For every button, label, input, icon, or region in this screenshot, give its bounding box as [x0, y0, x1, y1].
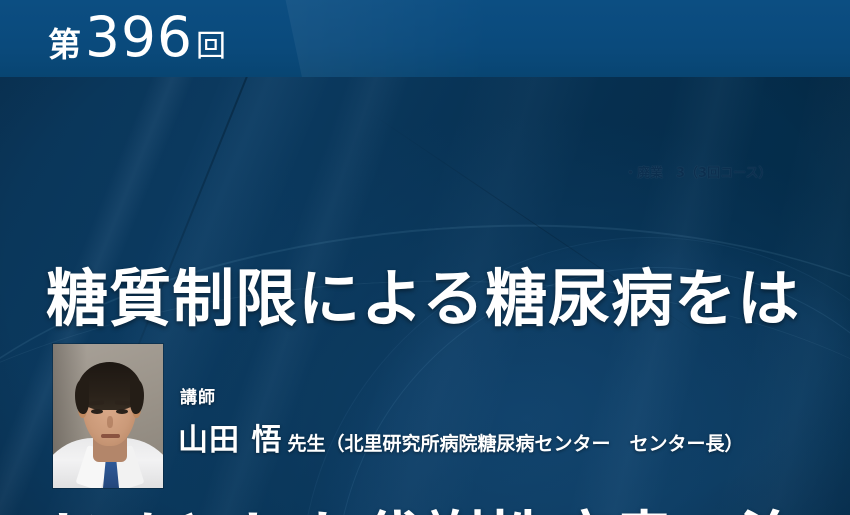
lecturer-name: 山田 悟 — [178, 415, 282, 459]
banner-sheen-decoration — [281, 0, 659, 77]
photo-eye-left — [91, 409, 103, 414]
episode-suffix-label: 回 — [196, 32, 226, 62]
lecturer-role-label: 講師 — [180, 383, 216, 408]
photo-eye-right — [116, 409, 128, 414]
lecturer-photo — [53, 344, 163, 488]
page-title-line-1: 糖質制限による糖尿病をは — [46, 259, 836, 340]
photo-hair-side-left — [75, 380, 89, 414]
episode-number-block: 第 396 回 — [48, 10, 226, 65]
photo-nose — [107, 416, 113, 428]
episode-prefix-label: 第 — [48, 28, 81, 61]
lecturer-name-block: 山田 悟 先生（北里研究所病院糖尿病センター センター長） — [178, 415, 743, 459]
page-title-line-2: じめとした代謝性疾患の治 — [46, 501, 836, 515]
slide-title-card: 第 396 回 糖質制限による糖尿病をは じめとした代謝性疾患の治 療② ・廃業… — [0, 0, 850, 515]
episode-number-value: 396 — [85, 10, 193, 65]
episode-banner: 第 396 回 — [0, 0, 850, 77]
photo-mouth — [101, 434, 120, 438]
overlay-note-text: ・廃業 3（3回コース） — [624, 162, 771, 181]
lecturer-affiliation: 先生（北里研究所病院糖尿病センター センター長） — [287, 429, 743, 456]
